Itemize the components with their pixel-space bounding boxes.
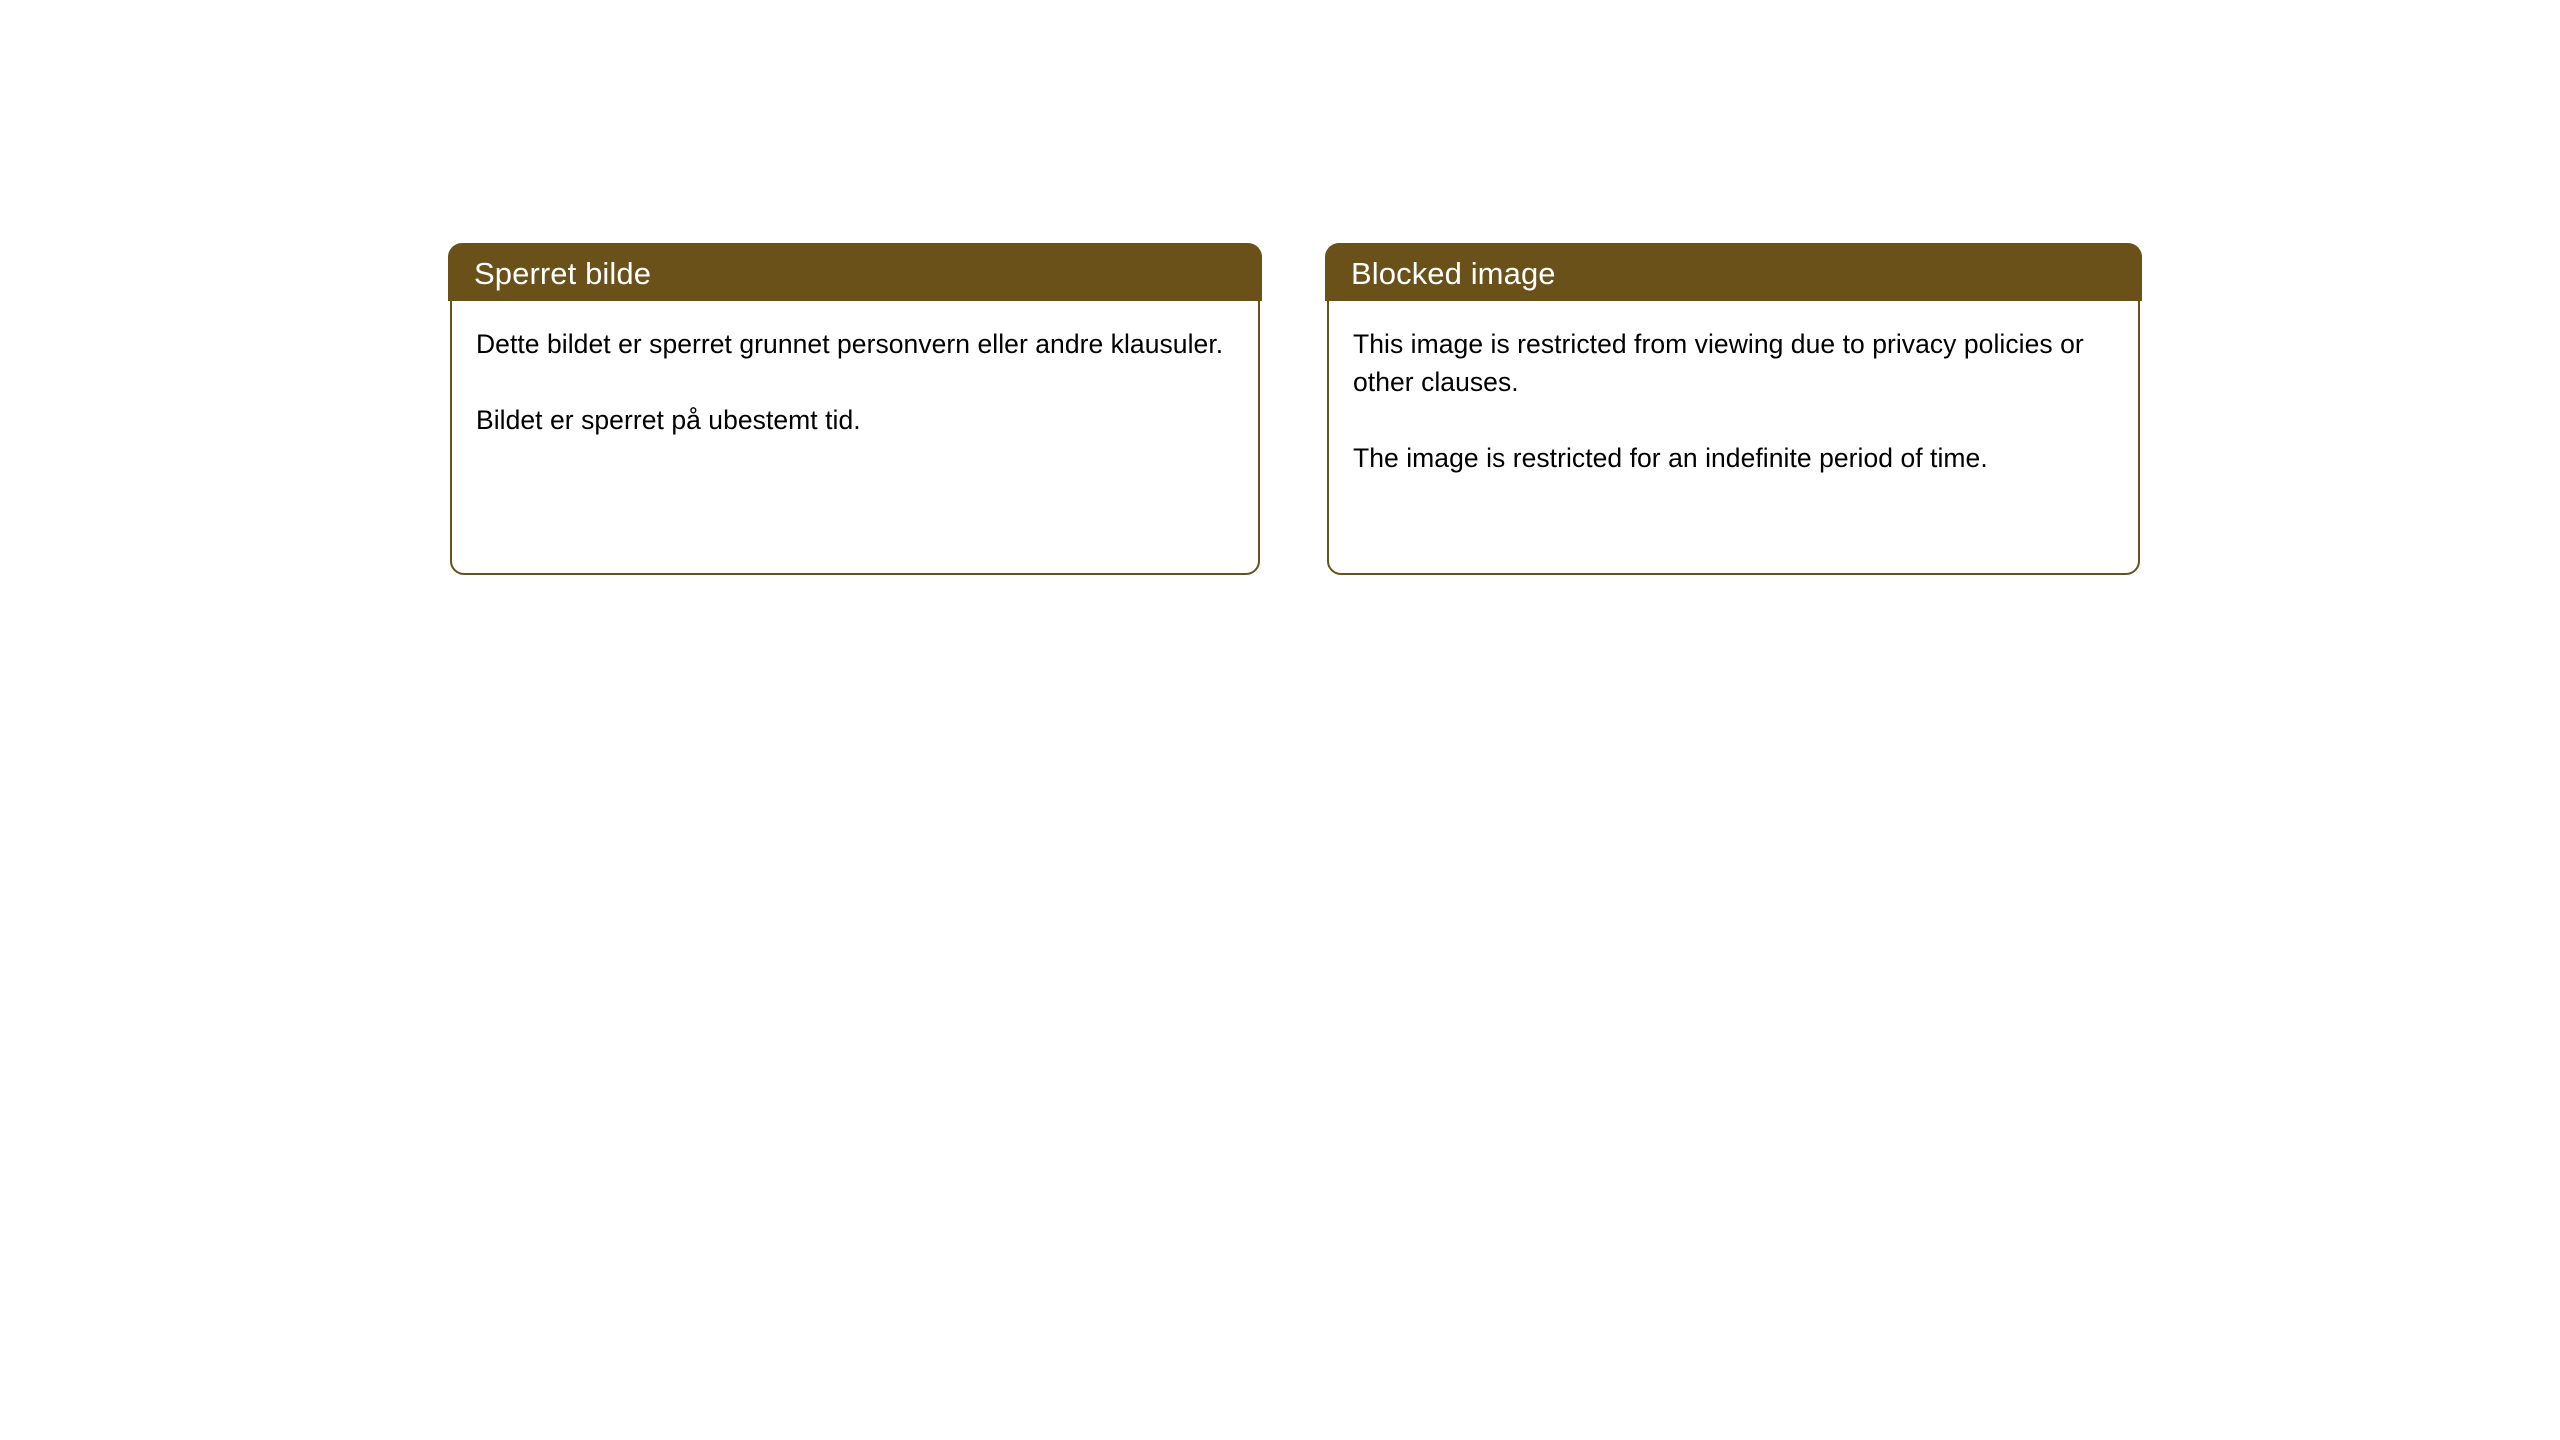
- card-paragraph-duration: Bildet er sperret på ubestemt tid.: [476, 401, 1238, 439]
- card-paragraph-duration: The image is restricted for an indefinit…: [1353, 439, 2118, 477]
- card-paragraph-reason: This image is restricted from viewing du…: [1353, 325, 2118, 401]
- card-title: Sperret bilde: [474, 258, 651, 289]
- card-header-bar: Blocked image: [1325, 243, 2142, 301]
- blocked-image-notice-card-english: Blocked image This image is restricted f…: [1327, 243, 2140, 575]
- blocked-image-notice-card-norwegian: Sperret bilde Dette bildet er sperret gr…: [450, 243, 1260, 575]
- card-content: This image is restricted from viewing du…: [1327, 301, 2140, 575]
- card-content: Dette bildet er sperret grunnet personve…: [450, 301, 1260, 575]
- card-paragraph-reason: Dette bildet er sperret grunnet personve…: [476, 325, 1238, 363]
- card-header-bar: Sperret bilde: [448, 243, 1262, 301]
- card-title: Blocked image: [1351, 258, 1556, 289]
- page-stage: Sperret bilde Dette bildet er sperret gr…: [0, 0, 2560, 1440]
